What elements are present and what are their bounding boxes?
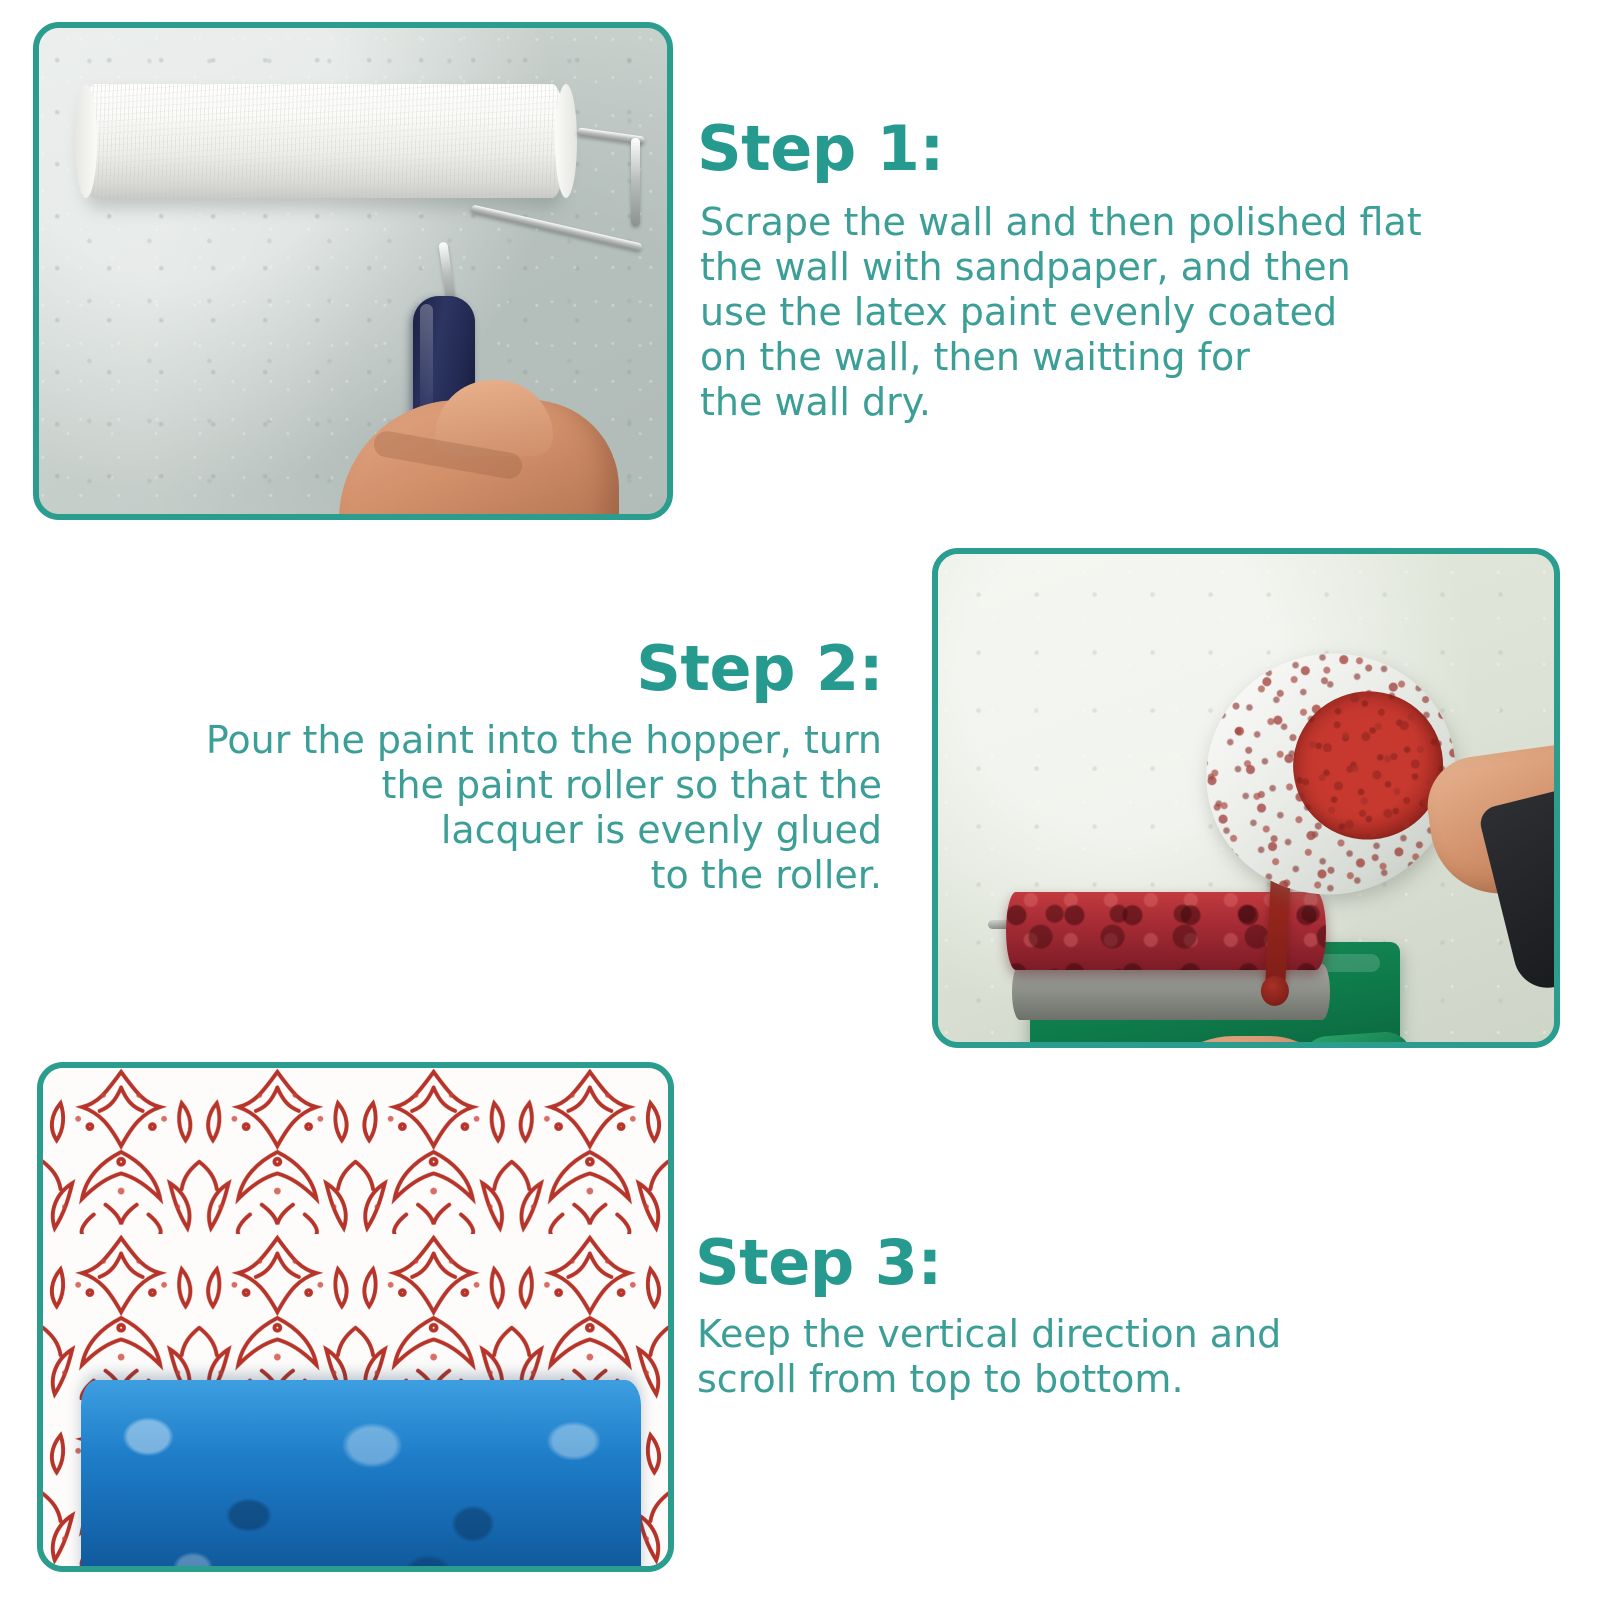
step-2-photo [932, 548, 1560, 1048]
roller-cap-left [75, 84, 97, 198]
step-2-photo-content [938, 554, 1554, 1042]
roller-nap-white [81, 84, 566, 198]
step-3-description: Keep the vertical direction and scroll f… [697, 1312, 1417, 1402]
step-1-photo [33, 22, 673, 520]
step-1-heading: Step 1: [697, 118, 944, 180]
step-1-description: Scrape the wall and then polished flat t… [700, 200, 1520, 425]
infographic-canvas: Step 1: Scrape the wall and then polishe… [0, 0, 1600, 1600]
step-2-description: Pour the paint into the hopper, turn the… [100, 718, 882, 898]
step-3-photo-content [43, 1068, 668, 1566]
roller-frame-segment [631, 138, 640, 226]
roller-cap-right [555, 84, 577, 198]
step-2-heading: Step 2: [615, 638, 883, 700]
pattern-roller-blue [81, 1380, 641, 1566]
roller-emboss-relief [81, 1380, 641, 1566]
step-3-photo [37, 1062, 674, 1572]
step-1-photo-content [39, 28, 667, 514]
hopper-grip [1300, 1030, 1413, 1042]
step-3-heading: Step 3: [695, 1232, 942, 1294]
